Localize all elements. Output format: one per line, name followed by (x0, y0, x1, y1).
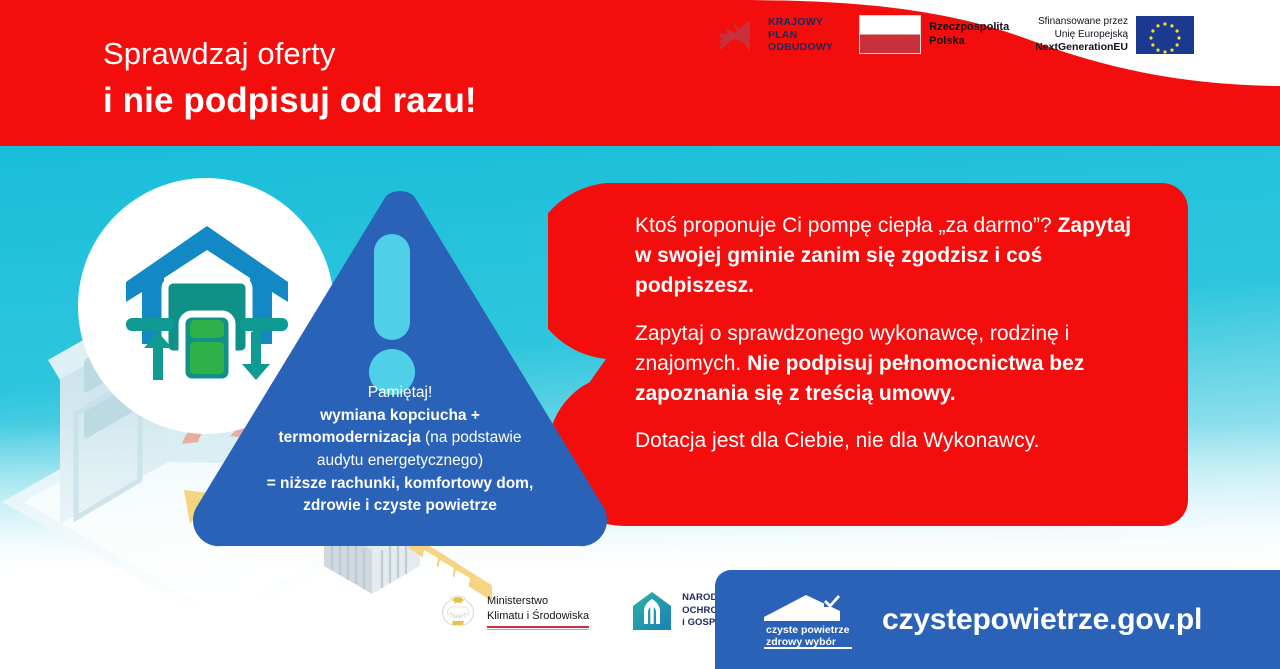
kpo-logo-text: KRAJOWY PLAN ODBUDOWY (768, 16, 833, 53)
house-check-logo-icon: czyste powietrze zdrowy wybór (762, 591, 858, 649)
kpo-line-2: PLAN (768, 29, 833, 41)
kpo-line-1: KRAJOWY (768, 16, 833, 28)
eu-logo-text: Sfinansowane przez Unię Europejską NextG… (1035, 15, 1128, 55)
poland-logo-text: Rzeczpospolita Polska (929, 21, 1009, 49)
triangle-line-6: zdrowie i czyste powietrze (240, 495, 560, 518)
banner-line-2: i nie podpisuj od razu! (103, 83, 477, 118)
eu-line-3: NextGenerationEU (1035, 41, 1128, 55)
eu-logo: Sfinansowane przez Unię Europejską NextG… (1035, 15, 1194, 55)
triangle-text-block: Pamiętaj! wymiana kopciucha + termomoder… (240, 382, 560, 518)
ministry-rule (487, 626, 589, 628)
triangle-line-5-bold: = niższe rachunki, komfortowy dom, (267, 475, 534, 492)
triangle-line-5: = niższe rachunki, komfortowy dom, (240, 473, 560, 496)
bubble-paragraph-2: Zapytaj o sprawdzonego wykonawcę, rodzin… (635, 319, 1145, 410)
kpo-line-3: ODBUDOWY (768, 41, 833, 53)
ministry-logo-text: Ministerstwo Klimatu i Środowiska (487, 594, 589, 628)
cp-logo-line-2: zdrowy wybór (766, 636, 836, 648)
triangle-line-3: termomodernizacja (na podstawie (240, 427, 560, 450)
eu-line-1: Sfinansowane przez (1035, 15, 1128, 28)
bubble-paragraph-1: Ktoś proponuje Ci pompę ciepła „za darmo… (635, 211, 1145, 302)
ministry-line-1: Ministerstwo (487, 594, 589, 608)
polish-flag-icon (859, 15, 921, 54)
bubble-p1-regular: Ktoś proponuje Ci pompę ciepła „za darmo… (635, 214, 1052, 237)
banner-line-1: Sprawdzaj oferty (103, 38, 477, 69)
footer-bar: czyste powietrze zdrowy wybór czystepowi… (715, 570, 1280, 669)
poland-line-2: Polska (929, 35, 1009, 49)
triangle-line-4: audytu energetycznego) (240, 450, 560, 473)
bubble-p3-regular: Dotacja jest dla Ciebie, nie dla Wykonaw… (635, 429, 1039, 452)
banner-heading: Sprawdzaj oferty i nie podpisuj od razu! (103, 38, 477, 118)
top-logo-strip: KRAJOWY PLAN ODBUDOWY Rzeczpospolita Pol… (716, 15, 1194, 55)
kpo-logo: KRAJOWY PLAN ODBUDOWY (716, 16, 833, 54)
triangle-line-1: Pamiętaj! (240, 382, 560, 405)
eu-line-2: Unię Europejską (1035, 28, 1128, 41)
ministry-line-2: Klimatu i Środowiska (487, 609, 589, 623)
nfosigw-logo-icon (631, 590, 673, 632)
bubble-paragraph-3: Dotacja jest dla Ciebie, nie dla Wykonaw… (635, 426, 1145, 456)
infographic-poster: Sprawdzaj oferty i nie podpisuj od razu!… (0, 0, 1280, 669)
triangle-line-2-bold: wymiana kopciucha + (320, 407, 480, 424)
cp-logo-line-1: czyste powietrze (766, 624, 850, 636)
triangle-line-2: wymiana kopciucha + (240, 405, 560, 428)
triangle-line-6-bold: zdrowie i czyste powietrze (303, 497, 497, 514)
website-url[interactable]: czystepowietrze.gov.pl (882, 603, 1202, 637)
polish-eagle-emblem-icon (438, 591, 478, 631)
poland-line-1: Rzeczpospolita (929, 21, 1009, 35)
kpo-bars-logo-icon (716, 16, 760, 54)
eu-flag-icon (1136, 16, 1194, 54)
triangle-line-3-rest: (na podstawie (421, 429, 522, 446)
bubble-text-block: Ktoś proponuje Ci pompę ciepła „za darmo… (635, 211, 1145, 457)
ministry-logo: Ministerstwo Klimatu i Środowiska (438, 591, 589, 631)
red-speech-bubble: Ktoś proponuje Ci pompę ciepła „za darmo… (548, 183, 1188, 526)
triangle-line-3-bold: termomodernizacja (279, 429, 421, 446)
blue-triangle-callout: Pamiętaj! wymiana kopciucha + termomoder… (190, 190, 610, 550)
poland-logo: Rzeczpospolita Polska (859, 15, 1009, 54)
